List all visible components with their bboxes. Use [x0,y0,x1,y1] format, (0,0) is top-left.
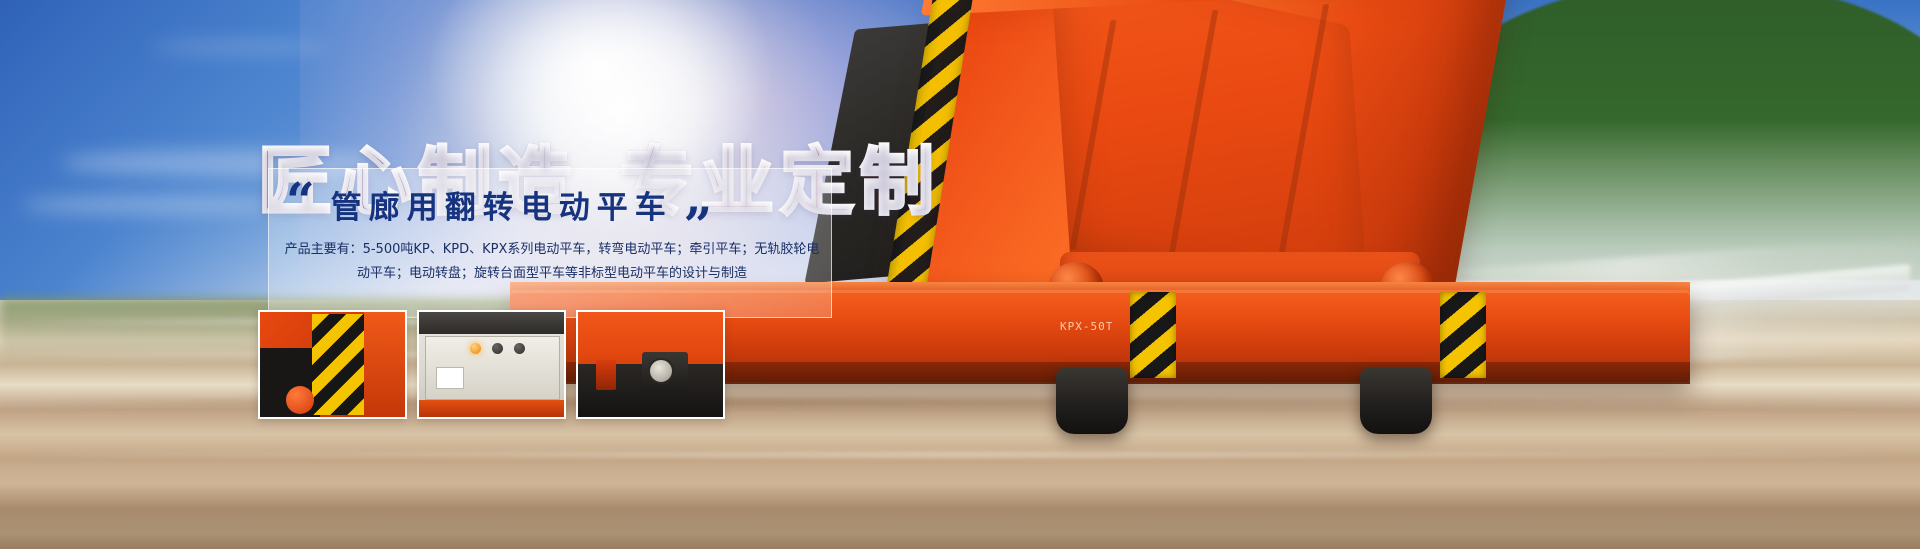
cart-deck-hazard-right [1440,292,1486,378]
product-description: 产品主要有：5-500吨KP、KPD、KPX系列电动平车，转弯电动平车；牵引平车… [282,238,822,286]
thumb2-top-shadow [419,312,564,334]
thumb2-indicator-lamp [514,343,525,354]
quote-close-icon: “ [683,181,712,221]
thumbnail-control-cabinet[interactable] [417,310,566,419]
subtitle-text: 管廊用翻转电动平车 [331,182,673,227]
product-transfer-cart: KPX-50T [760,0,1760,460]
thumb1-right-panel [364,312,405,417]
cart-model-label: KPX-50T [1060,320,1113,333]
cloud-streak [20,196,280,214]
thumb3-pressure-gauge [648,358,674,384]
thumb2-orange-base [419,400,564,417]
thumb1-bumper-ball [286,386,314,414]
thumb2-indicator-lamp [492,343,503,354]
cart-wheel [1056,368,1128,434]
hero-banner: KPX-50T 匠心制造专业定制 “ 管廊用翻转电动平车 “ 产品主要有：5-5… [0,0,1920,549]
thumb3-red-fitting [596,360,616,390]
quote-open-icon: “ [286,181,315,221]
thumbnail-strip [258,310,725,419]
thumbnail-hydraulic-gauge[interactable] [576,310,725,419]
thumb2-indicator-lamp [470,343,481,354]
cart-deck-hazard-left [1130,292,1176,378]
thumbnail-hazard-bumper[interactable] [258,310,407,419]
cart-wheel [1360,368,1432,434]
cloud-streak [150,40,330,54]
thumb2-cabinet-body [425,336,560,400]
description-line-2: 动平车；电动转盘；旋转台面型平车等非标型电动平车的设计与制造 [282,262,822,286]
road-shadow [0,470,1920,549]
description-line-1: 产品主要有：5-500吨KP、KPD、KPX系列电动平车，转弯电动平车；牵引平车… [282,238,822,262]
thumb1-hazard-stripe [312,314,364,415]
thumb2-label-plate [436,367,464,389]
subtitle-row: “ 管廊用翻转电动平车 “ [286,182,712,227]
